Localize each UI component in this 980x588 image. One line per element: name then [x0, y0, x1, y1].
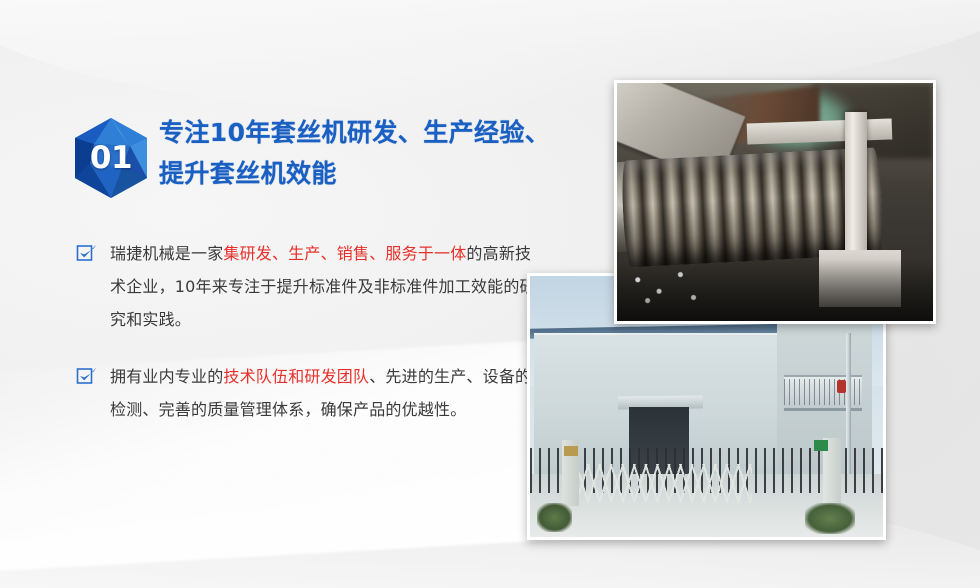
threaded-rod-caliper-photo: [614, 80, 936, 324]
exit-sign: [814, 440, 828, 450]
checkbox-check-icon: [76, 365, 98, 387]
badge-number: 01: [72, 116, 150, 200]
heading-row: 01 专注10年套丝机研发、生产经验、 提升套丝机效能: [72, 112, 542, 204]
list-item-text: 拥有业内专业的技术队伍和研发团队、先进的生产、设备的检测、完善的质量管理体系，确…: [110, 360, 542, 426]
threading-machine-scene: [617, 83, 933, 321]
shrub-right: [805, 503, 854, 534]
list-item: 瑞捷机械是一家集研发、生产、销售、服务于一体的高新技术企业，10年来专注于提升标…: [72, 237, 542, 336]
hexagon-gem-icon: 01: [72, 116, 150, 200]
feature-list: 瑞捷机械是一家集研发、生产、销售、服务于一体的高新技术企业，10年来专注于提升标…: [72, 237, 542, 426]
title-line-1: 专注10年套丝机研发、生产经验、: [159, 112, 542, 153]
list-item: 拥有业内专业的技术队伍和研发团队、先进的生产、设备的检测、完善的质量管理体系，确…: [72, 360, 542, 426]
checkbox-check-icon: [76, 242, 98, 264]
bullet-1-seg-2-highlight: 集研发、生产、销售、服务于一体: [223, 244, 466, 263]
shrub-left: [537, 503, 572, 532]
bullet-2-seg-2-highlight: 技术队伍和研发团队: [223, 367, 369, 386]
title-line-2: 提升套丝机效能: [159, 153, 542, 194]
alarm-lamp: [837, 380, 846, 393]
list-item-text: 瑞捷机械是一家集研发、生产、销售、服务于一体的高新技术企业，10年来专注于提升标…: [110, 237, 542, 336]
company-plaque: [564, 446, 578, 456]
sliding-gate: [576, 464, 753, 503]
bullet-2-seg-1: 拥有业内专业的: [110, 367, 223, 386]
coolant-droplets: [623, 259, 705, 311]
promo-banner: 01 专注10年套丝机研发、生产经验、 提升套丝机效能 瑞捷机械是一家集研发、生…: [0, 0, 980, 588]
content-column: 01 专注10年套丝机研发、生产经验、 提升套丝机效能 瑞捷机械是一家集研发、生…: [72, 112, 542, 426]
bullet-1-seg-1: 瑞捷机械是一家: [110, 244, 223, 263]
